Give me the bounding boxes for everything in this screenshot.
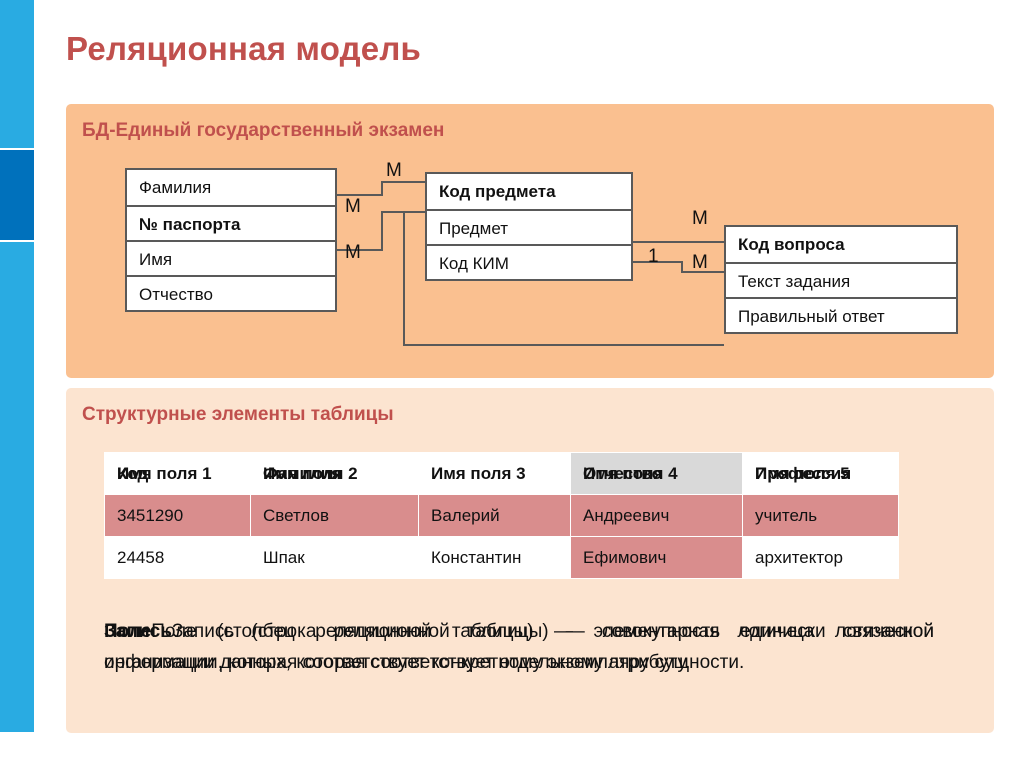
header-front-label-4: Имя поля 4 [583, 453, 678, 495]
table-cell: архитектор [743, 537, 899, 579]
table-cell: Валерий [419, 495, 571, 537]
structure-table: Код Имя поля 1 Фамилия Имя поля 2 Имя по… [104, 452, 899, 579]
table-header-row: Код Имя поля 1 Фамилия Имя поля 2 Имя по… [105, 453, 899, 495]
table-header-cell-3: Имя поля 3 [419, 453, 571, 495]
table-cell-highlighted: Ефимович [571, 537, 743, 579]
er-row-key: № паспорта [127, 205, 335, 240]
er-row-key: Код вопроса [726, 227, 956, 262]
cardinality-label-1: М [345, 196, 361, 218]
er-table-subject: Код предмета Предмет Код КИМ [425, 172, 633, 281]
caption-keyword-field: Поле [104, 621, 151, 642]
header-front-label-1: Имя поля 1 [117, 453, 212, 495]
table-row: 24458 Шпак Константин Ефимович архитекто… [105, 537, 899, 579]
er-row: Фамилия [127, 170, 335, 205]
table-cell: 24458 [105, 537, 251, 579]
table-cell: Светлов [251, 495, 419, 537]
caption-text-field: Поле (столбец реляционной таблицы) — эле… [104, 621, 934, 673]
structure-panel-title: Структурные элементы таблицы [82, 404, 394, 426]
er-row: Имя [127, 240, 335, 275]
table-cell: Андреевич [571, 495, 743, 537]
cardinality-label-3: М [345, 242, 361, 264]
table-cell: учитель [743, 495, 899, 537]
header-front-label-3: Имя поля 3 [431, 464, 526, 483]
table-row: 3451290 Светлов Валерий Андреевич учител… [105, 495, 899, 537]
decorative-bar-middle [0, 150, 34, 240]
table-header-cell-2: Фамилия Имя поля 2 [251, 453, 419, 495]
er-row: Правильный ответ [726, 297, 956, 332]
decorative-bar-bottom [0, 242, 34, 732]
table-header-cell-1: Код Имя поля 1 [105, 453, 251, 495]
table-cell: 3451290 [105, 495, 251, 537]
cardinality-label-6: М [692, 252, 708, 274]
er-row: Код КИМ [427, 244, 631, 279]
er-row: Отчество [127, 275, 335, 310]
er-row-key: Код предмета [427, 174, 631, 209]
cardinality-label-4: 1 [648, 246, 659, 268]
caption-layer-field: ПолеПоле (столбец реляционной таблицы) —… [104, 616, 934, 678]
page-title: Реляционная модель [66, 30, 421, 68]
table-header-cell-5: Профессия Имя поля 5 [743, 453, 899, 495]
er-table-question: Код вопроса Текст задания Правильный отв… [724, 225, 958, 334]
er-panel-title: БД-Единый государственный экзамен [82, 120, 444, 142]
table-cell: Шпак [251, 537, 419, 579]
table-cell: Константин [419, 537, 571, 579]
er-row: Предмет [427, 209, 631, 244]
header-front-label-5: Имя поля 5 [755, 453, 850, 495]
decorative-bar-top [0, 0, 34, 148]
er-row: Текст задания [726, 262, 956, 297]
cardinality-label-5: М [692, 208, 708, 230]
header-front-label-2: Имя поля 2 [263, 453, 358, 495]
er-table-person: Фамилия № паспорта Имя Отчество [125, 168, 337, 312]
cardinality-label-2: М [386, 160, 402, 182]
table-header-cell-4: Отчество Имя поля 4 [571, 453, 743, 495]
